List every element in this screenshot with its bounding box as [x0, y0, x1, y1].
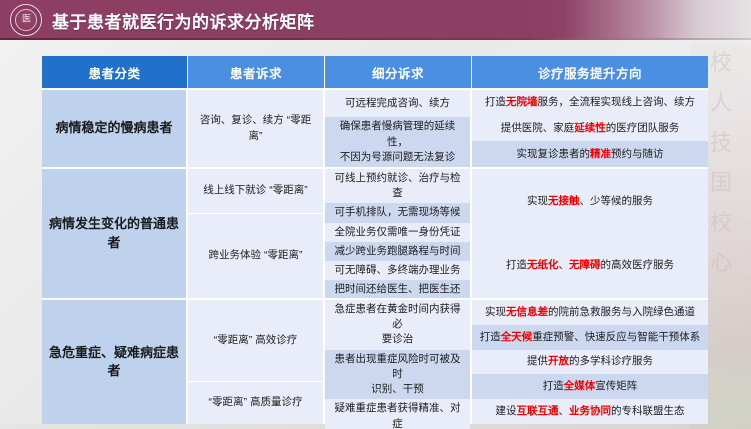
highlight-keyword: 无纸化: [527, 259, 559, 271]
logo-glyph: 医: [11, 16, 41, 25]
highlight-keyword: 互联互通: [517, 405, 559, 417]
service-direction-label: 建设互联互通、业务协同的专科联盟生态: [496, 404, 685, 419]
direction-text: 的医疗团队服务: [606, 122, 680, 134]
patient-demand-label: “零距离” 高效诊疗: [214, 333, 297, 348]
highlight-keyword: 无障碍: [569, 259, 601, 271]
direction-text: 打造: [543, 380, 564, 392]
direction-text: 、少等候的服务: [580, 195, 654, 207]
sub-demand-label: 可无障碍、多终端办理业务: [335, 263, 461, 278]
patient-demand-cell[interactable]: 线上线下就诊 “零距离”: [188, 169, 323, 213]
table-header-label: 患者诉求: [230, 63, 282, 82]
service-direction-label: 打造全媒体宣传矩阵: [543, 379, 638, 394]
highlight-keyword: 开放: [548, 355, 569, 367]
patient-demand-cell[interactable]: 咨询、复诊、续方 “零距离”: [188, 90, 323, 167]
service-direction-cell[interactable]: 建设互联互通、业务协同的专科联盟生态: [472, 399, 708, 424]
table-row: 病情发生变化的普通患者线上线下就诊 “零距离”跨业务体验 “零距离”可线上预约就…: [42, 167, 708, 298]
sub-demand-label: 可手机排队，无需现场等候: [335, 205, 461, 220]
service-direction-label: 实现复诊患者的精准预约与随访: [517, 147, 664, 162]
patient-demand-label: “零距离” 高质量诊疗: [209, 395, 303, 410]
sub-demand-label: 减少跨业务跑腿路程与时间: [335, 244, 461, 259]
direction-text: 建设: [496, 405, 517, 417]
page-title: 基于患者就医行为的诉求分析矩阵: [52, 8, 315, 33]
sub-demand-column: 可线上预约就诊、治疗与检查可手机排队，无需现场等候全院业务仅需唯一身份凭证减少跨…: [325, 169, 472, 298]
service-direction-cell[interactable]: 提供开放的多学科诊疗服务: [472, 350, 708, 375]
highlight-keyword: 无院墙: [506, 96, 538, 108]
patient-demand-column: 线上线下就诊 “零距离”跨业务体验 “零距离”: [188, 169, 325, 298]
service-direction-column: 实现无接触、少等候的服务打造无纸化、无障碍的高效医疗服务: [472, 169, 708, 298]
direction-text: 服务，全流程实现线上咨询、续方: [538, 96, 696, 108]
patient-demand-label: 线上线下就诊 “零距离”: [203, 183, 307, 198]
table-row: 病情稳定的慢病患者咨询、复诊、续方 “零距离”可远程完成咨询、续方确保患者慢病管…: [42, 88, 708, 167]
patient-category-cell[interactable]: 病情稳定的慢病患者: [42, 90, 188, 167]
demand-analysis-matrix: 患者分类患者诉求细分诉求诊疗服务提升方向 病情稳定的慢病患者咨询、复诊、续方 “…: [42, 56, 708, 424]
service-direction-label: 提供医院、家庭延续性的医疗团队服务: [501, 121, 680, 136]
patient-demand-cell[interactable]: “零距离” 高效诊疗: [188, 300, 323, 381]
direction-text: 的多学科诊疗服务: [569, 355, 653, 367]
patient-demand-label: 咨询、复诊、续方 “零距离”: [200, 113, 311, 143]
patient-category-label: 病情发生变化的普通患者: [46, 215, 182, 251]
direction-text: 提供: [527, 355, 548, 367]
sub-demand-cell[interactable]: 急症患者在黄金时间内获得必要诊治: [325, 300, 470, 350]
highlight-keyword: 全天候: [501, 331, 533, 343]
service-direction-cell[interactable]: 打造无院墙服务，全流程实现线上咨询、续方: [472, 90, 708, 116]
table-row: 急危重症、疑难病症患者“零距离” 高效诊疗“零距离” 高质量诊疗急症患者在黄金时…: [42, 298, 708, 424]
direction-text: 重症预警、快速反应与智能干预体系: [532, 331, 700, 343]
direction-text: 打造: [485, 96, 506, 108]
service-direction-cell[interactable]: 实现复诊患者的精准预约与随访: [472, 141, 708, 167]
table-header-cell-1[interactable]: 患者分类: [42, 56, 188, 88]
direction-text: 宣传矩阵: [595, 380, 637, 392]
sub-demand-label: 急症患者在黄金时间内获得必要诊治: [332, 302, 463, 348]
title-bar-accent: [0, 38, 751, 40]
table-header-row: 患者分类患者诉求细分诉求诊疗服务提升方向: [42, 56, 708, 88]
table-body: 病情稳定的慢病患者咨询、复诊、续方 “零距离”可远程完成咨询、续方确保患者慢病管…: [42, 88, 708, 424]
highlight-keyword: 精准: [590, 148, 611, 160]
direction-text: 预约与随访: [611, 148, 664, 160]
table-header-label: 细分诉求: [372, 63, 424, 82]
patient-demand-label: 跨业务体验 “零距离”: [209, 248, 303, 263]
patient-category-cell[interactable]: 急危重症、疑难病症患者: [42, 300, 188, 424]
service-direction-cell[interactable]: 实现无接触、少等候的服务: [472, 169, 708, 234]
direction-text: 打造: [480, 331, 501, 343]
sub-demand-cell[interactable]: 可无障碍、多终端办理业务: [325, 261, 470, 280]
hospital-logo-icon: 医: [10, 4, 42, 36]
direction-text: 、: [559, 405, 570, 417]
highlight-keyword: 全媒体: [564, 380, 596, 392]
sub-demand-cell[interactable]: 可远程完成咨询、续方: [325, 90, 470, 117]
service-direction-label: 打造无纸化、无障碍的高效医疗服务: [506, 258, 674, 273]
title-bar: 医 基于患者就医行为的诉求分析矩阵: [0, 0, 751, 40]
sub-demand-cell[interactable]: 全院业务仅需唯一身份凭证: [325, 223, 470, 242]
sub-demand-cell[interactable]: 可线上预约就诊、治疗与检查: [325, 169, 470, 203]
service-direction-label: 实现无接触、少等候的服务: [527, 194, 653, 209]
table-header-cell-2[interactable]: 患者诉求: [188, 56, 325, 88]
table-header-cell-3[interactable]: 细分诉求: [325, 56, 472, 88]
direction-text: 实现: [527, 195, 548, 207]
direction-text: 的高效医疗服务: [601, 259, 675, 271]
patient-demand-cell[interactable]: 跨业务体验 “零距离”: [188, 213, 323, 298]
highlight-keyword: 业务协同: [569, 405, 611, 417]
sub-demand-cell[interactable]: 疑难重症患者获得精准、对症的诊疗服务: [325, 399, 470, 429]
table-header-label: 患者分类: [88, 63, 140, 82]
sub-demand-cell[interactable]: 患者出现重症风险时可被及时识别、干预: [325, 350, 470, 400]
direction-text: 实现: [485, 306, 506, 318]
highlight-keyword: 延续性: [574, 122, 606, 134]
service-direction-cell[interactable]: 打造全天候重症预警、快速反应与智能干预体系: [472, 325, 708, 350]
sub-demand-column: 急症患者在黄金时间内获得必要诊治患者出现重症风险时可被及时识别、干预疑难重症患者…: [325, 300, 472, 424]
direction-text: 、: [559, 259, 570, 271]
patient-demand-column: 咨询、复诊、续方 “零距离”: [188, 90, 325, 167]
service-direction-cell[interactable]: 提供医院、家庭延续性的医疗团队服务: [472, 116, 708, 142]
patient-category-cell[interactable]: 病情发生变化的普通患者: [42, 169, 188, 298]
service-direction-label: 实现无信息差的院前急救服务与入院绿色通道: [485, 305, 695, 320]
direction-text: 实现复诊患者的: [517, 148, 591, 160]
direction-text: 的院前急救服务与入院绿色通道: [548, 306, 695, 318]
service-direction-cell[interactable]: 打造全媒体宣传矩阵: [472, 374, 708, 399]
sub-demand-cell[interactable]: 减少跨业务跑腿路程与时间: [325, 242, 470, 261]
direction-text: 打造: [506, 259, 527, 271]
highlight-keyword: 无信息差: [506, 306, 548, 318]
highlight-keyword: 无接触: [548, 195, 580, 207]
service-direction-column: 打造无院墙服务，全流程实现线上咨询、续方提供医院、家庭延续性的医疗团队服务实现复…: [472, 90, 708, 167]
service-direction-cell[interactable]: 实现无信息差的院前急救服务与入院绿色通道: [472, 300, 708, 325]
table-header-label: 诊疗服务提升方向: [538, 63, 642, 82]
patient-demand-cell[interactable]: “零距离” 高质量诊疗: [188, 381, 323, 424]
patient-category-label: 急危重症、疑难病症患者: [46, 344, 182, 380]
patient-demand-column: “零距离” 高效诊疗“零距离” 高质量诊疗: [188, 300, 325, 424]
sub-demand-cell[interactable]: 确保患者慢病管理的延续性，不因为号源问题无法复诊: [325, 117, 470, 167]
sub-demand-label: 疑难重症患者获得精准、对症的诊疗服务: [332, 401, 463, 429]
table-header-cell-4[interactable]: 诊疗服务提升方向: [472, 56, 708, 88]
service-direction-label: 提供开放的多学科诊疗服务: [527, 354, 653, 369]
sub-demand-label: 患者出现重症风险时可被及时识别、干预: [332, 352, 463, 398]
sub-demand-column: 可远程完成咨询、续方确保患者慢病管理的延续性，不因为号源问题无法复诊: [325, 90, 472, 167]
sub-demand-label: 可线上预约就诊、治疗与检查: [332, 171, 463, 201]
direction-text: 的专科联盟生态: [611, 405, 685, 417]
service-direction-label: 打造无院墙服务，全流程实现线上咨询、续方: [485, 95, 695, 110]
sub-demand-label: 全院业务仅需唯一身份凭证: [335, 225, 461, 240]
service-direction-cell[interactable]: 打造无纸化、无障碍的高效医疗服务: [472, 234, 708, 299]
sub-demand-label: 确保患者慢病管理的延续性，不因为号源问题无法复诊: [332, 119, 463, 165]
service-direction-label: 打造全天候重症预警、快速反应与智能干预体系: [480, 330, 701, 345]
patient-category-label: 病情稳定的慢病患者: [55, 119, 172, 137]
direction-text: 提供医院、家庭: [501, 122, 575, 134]
sub-demand-label: 可远程完成咨询、续方: [345, 96, 450, 111]
service-direction-column: 实现无信息差的院前急救服务与入院绿色通道打造全天候重症预警、快速反应与智能干预体…: [472, 300, 708, 424]
sub-demand-cell[interactable]: 可手机排队，无需现场等候: [325, 203, 470, 222]
